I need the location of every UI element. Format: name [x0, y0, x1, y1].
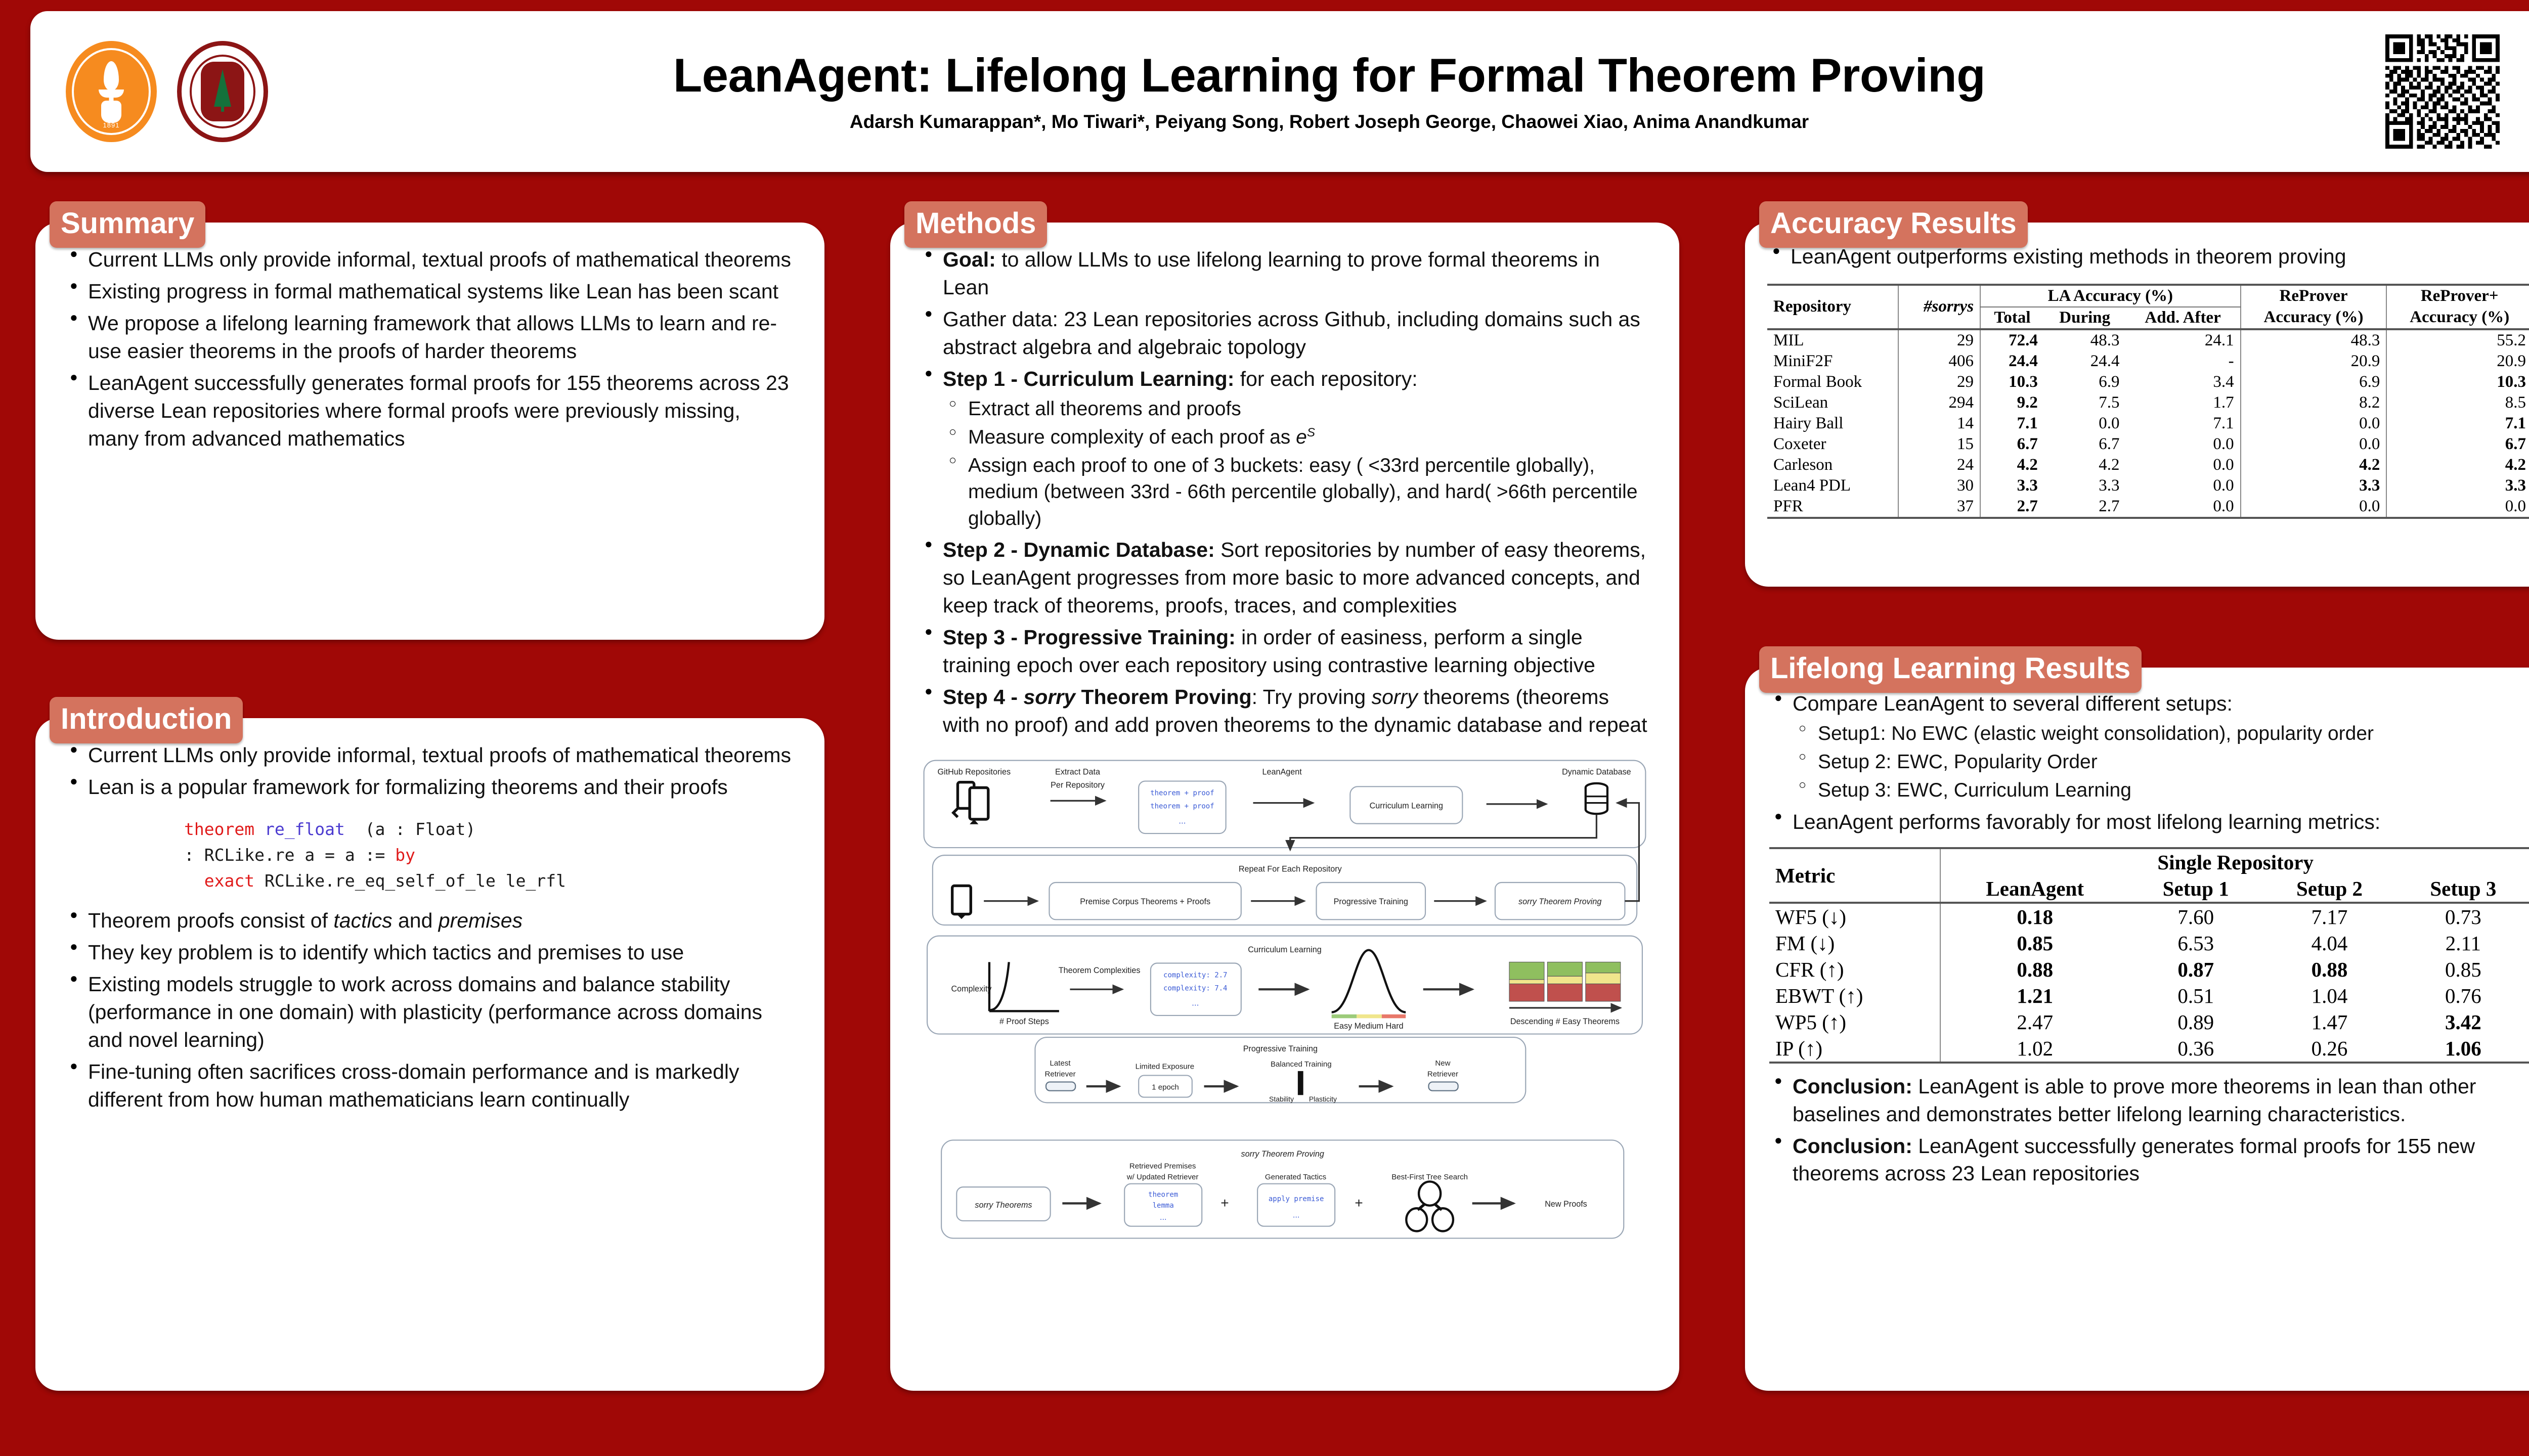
table-row: FM (↓)0.856.534.042.11	[1769, 930, 2529, 956]
cell-reprover-plus: 20.9	[2386, 351, 2529, 372]
caltech-year: 1891	[103, 121, 120, 129]
cell-total: 2.7	[1980, 496, 2044, 518]
svg-text:# Proof Steps: # Proof Steps	[999, 1017, 1049, 1026]
svg-text:...: ...	[1160, 1213, 1166, 1222]
accuracy-body: LeanAgent outperforms existing methods i…	[1745, 223, 2529, 539]
diagram-theorem-proof-box: theorem + proof theorem + proof ...	[1139, 781, 1226, 833]
cell-repository: MIL	[1767, 329, 1898, 351]
cell-repository: SciLean	[1767, 392, 1898, 413]
methods-sub-bullet: Measure complexity of each proof as eS	[943, 424, 1650, 451]
cell-setup1: 7.60	[2129, 903, 2262, 930]
cell-total: 10.3	[1980, 372, 2044, 392]
svg-text:New: New	[1435, 1059, 1450, 1068]
cell-during: 24.4	[2044, 351, 2126, 372]
lifelong-body: Compare LeanAgent to several different s…	[1745, 668, 2529, 1214]
stanford-s-shape	[201, 62, 244, 121]
generated-tactics-box: Generated Tactics apply premise ...	[1257, 1173, 1335, 1226]
cell-add-after: 0.0	[2126, 434, 2241, 455]
torch-icon	[98, 61, 125, 122]
cell-repository: Formal Book	[1767, 372, 1898, 392]
svg-text:Complexity: Complexity	[951, 984, 992, 993]
sub-add-after: Add. After	[2126, 307, 2241, 329]
accuracy-table: Repository #sorrys LA Accuracy (%) RePro…	[1767, 284, 2529, 519]
cell-total: 7.1	[1980, 413, 2044, 434]
svg-text:Premise Corpus Theorems + Pr: Premise Corpus Theorems + Proofs	[1080, 897, 1210, 906]
table-row: SciLean2949.27.51.78.28.5	[1767, 392, 2529, 413]
cell-setup2: 7.17	[2262, 903, 2396, 930]
setup-list: Setup1: No EWC (elastic weight consolida…	[1793, 721, 2529, 804]
code-token	[254, 819, 265, 839]
svg-text:Descending # Easy Theorems: Descending # Easy Theorems	[1510, 1017, 1620, 1026]
cell-reprover: 6.9	[2241, 372, 2387, 392]
diagram-repo-icon-2	[952, 886, 971, 919]
col-reprover-plus: ReProver+	[2386, 285, 2529, 307]
col-la-accuracy: LA Accuracy (%)	[1980, 285, 2241, 307]
cell-setup2: 0.26	[2262, 1035, 2396, 1063]
table-row: MIL2972.448.324.148.355.2	[1767, 329, 2529, 351]
introduction-bullet: Fine-tuning often sacrifices cross-domai…	[65, 1058, 795, 1114]
lifelong-results-heading: Lifelong Learning Results	[1759, 646, 2142, 693]
page-title: LeanAgent: Lifelong Learning for Formal …	[293, 51, 2365, 101]
svg-text:1 epoch: 1 epoch	[1152, 1083, 1179, 1091]
cell-setup3: 0.85	[2396, 956, 2529, 983]
cell-metric: WF5 (↓)	[1769, 903, 1940, 930]
cell-setup3: 1.06	[2396, 1035, 2529, 1063]
col-setup3: Setup 3	[2396, 875, 2529, 903]
cell-reprover-plus: 4.2	[2386, 455, 2529, 475]
introduction-bullets-before: Current LLMs only provide informal, text…	[65, 741, 795, 801]
code-token	[184, 871, 204, 891]
new-proofs-label: New Proofs	[1545, 1200, 1587, 1209]
table-row: EBWT (↑)1.210.511.040.76	[1769, 983, 2529, 1009]
cell-add-after: 3.4	[2126, 372, 2241, 392]
table-row: Carleson244.24.20.04.24.2	[1767, 455, 2529, 475]
summary-bullet: Existing progress in formal mathematical…	[65, 278, 795, 305]
cell-repository: MiniF2F	[1767, 351, 1898, 372]
lifelong-group-header-row: Metric Single Repository	[1769, 848, 2529, 875]
cell-reprover-plus: 3.3	[2386, 475, 2529, 496]
diagram-progressive-training-box: Progressive Training	[1317, 883, 1426, 919]
cell-total: 6.7	[1980, 434, 2044, 455]
cell-setup1: 0.87	[2129, 956, 2262, 983]
diagram-curriculum-learning-box: Curriculum Learning	[1350, 786, 1462, 823]
accuracy-table-head: Repository #sorrys LA Accuracy (%) RePro…	[1767, 285, 2529, 329]
table-row: CFR (↑)0.880.870.880.85	[1769, 956, 2529, 983]
cell-setup2: 0.88	[2262, 956, 2396, 983]
svg-text:...: ...	[1179, 815, 1186, 825]
caltech-seal-icon: 1891	[66, 41, 157, 142]
cell-total: 9.2	[1980, 392, 2044, 413]
cell-reprover-plus: 10.3	[2386, 372, 2529, 392]
methods-sub-bullet: Assign each proof to one of 3 buckets: e…	[943, 453, 1650, 532]
cell-setup3: 0.73	[2396, 903, 2529, 930]
cell-setup2: 1.47	[2262, 1009, 2396, 1035]
svg-text:Plasticity: Plasticity	[1309, 1095, 1337, 1103]
lifelong-bullet: LeanAgent performs favorably for most li…	[1769, 808, 2529, 836]
poster-root: 1891 LeanAgent: Lifelong Learning for Fo…	[0, 0, 2529, 1456]
col-reprover: ReProver	[2241, 285, 2387, 307]
methods-bullet: Step 2 - Dynamic Database: Sort reposito…	[920, 536, 1650, 620]
cell-during: 4.2	[2044, 455, 2126, 475]
cell-sorrys: 29	[1898, 329, 1980, 351]
table-row: Formal Book2910.36.93.46.910.3	[1767, 372, 2529, 392]
cell-total: 4.2	[1980, 455, 2044, 475]
methods-bullet-list: Goal: to allow LLMs to use lifelong lear…	[920, 246, 1650, 739]
cell-metric: IP (↑)	[1769, 1035, 1940, 1063]
cell-leanagent: 2.47	[1940, 1009, 2129, 1035]
methods-bullet: Step 3 - Progressive Training: in order …	[920, 624, 1650, 679]
cell-sorrys: 30	[1898, 475, 1980, 496]
cell-reprover-plus: 55.2	[2386, 329, 2529, 351]
cell-sorrys: 14	[1898, 413, 1980, 434]
cell-add-after: 0.0	[2126, 475, 2241, 496]
svg-text:sorry Theorems: sorry Theorems	[975, 1201, 1032, 1210]
cell-reprover: 0.0	[2241, 496, 2387, 518]
cell-setup1: 0.36	[2129, 1035, 2262, 1063]
col-sorrys: #sorrys	[1898, 285, 1980, 329]
cell-during: 7.5	[2044, 392, 2126, 413]
cell-reprover: 4.2	[2241, 455, 2387, 475]
lean-code-block: theorem re_float (a : Float): RCLike.re …	[65, 816, 795, 894]
svg-text:Easy Medium Hard: Easy Medium Hard	[1334, 1021, 1403, 1030]
methods-bullet: Gather data: 23 Lean repositories across…	[920, 305, 1650, 361]
cell-add-after: 7.1	[2126, 413, 2241, 434]
accuracy-results-panel: LeanAgent outperforms existing methods i…	[1745, 223, 2529, 587]
cell-leanagent: 1.02	[1940, 1035, 2129, 1063]
col-setup1: Setup 1	[2129, 875, 2262, 903]
diagram-repeat-label: Repeat For Each Repository	[1239, 864, 1342, 873]
cell-during: 0.0	[2044, 413, 2126, 434]
cell-setup3: 2.11	[2396, 930, 2529, 956]
cell-reprover-plus: 0.0	[2386, 496, 2529, 518]
introduction-panel: Current LLMs only provide informal, text…	[35, 718, 824, 1391]
svg-text:Curriculum Learning: Curriculum Learning	[1370, 801, 1443, 810]
svg-text:Dynamic Database: Dynamic Database	[1562, 767, 1631, 776]
summary-bullet: Current LLMs only provide informal, text…	[65, 246, 795, 274]
author-list: Adarsh Kumarappan*, Mo Tiwari*, Peiyang …	[293, 111, 2365, 133]
qr-code-icon[interactable]	[2385, 34, 2500, 149]
lifelong-metrics-table: Metric Single Repository LeanAgent Setup…	[1769, 847, 2529, 1064]
diagram-complexity-box: complexity: 2.7 complexity: 7.4 ...	[1151, 963, 1241, 1015]
setup-item: Setup1: No EWC (elastic weight consolida…	[1793, 721, 2529, 747]
cell-add-after: 24.1	[2126, 329, 2241, 351]
accuracy-table-body: MIL2972.448.324.148.355.2MiniF2F40624.42…	[1767, 329, 2529, 518]
cell-sorrys: 406	[1898, 351, 1980, 372]
svg-text:Theorem Complexities: Theorem Complexities	[1059, 965, 1141, 975]
conclusion-bullet: Conclusion: LeanAgent successfully gener…	[1769, 1132, 2529, 1188]
cell-total: 72.4	[1980, 329, 2044, 351]
introduction-heading: Introduction	[50, 697, 243, 743]
code-line: theorem re_float (a : Float)	[184, 816, 795, 842]
cell-during: 6.7	[2044, 434, 2126, 455]
accuracy-results-heading: Accuracy Results	[1759, 201, 2028, 248]
svg-text:w/ Updated Retriever: w/ Updated Retriever	[1126, 1173, 1199, 1181]
svg-text:Retrieved Premises: Retrieved Premises	[1129, 1162, 1196, 1170]
cell-repository: Carleson	[1767, 455, 1898, 475]
code-token: : RCLike.re a = a :=	[184, 845, 395, 865]
svg-text:Generated Tactics: Generated Tactics	[1265, 1173, 1326, 1181]
cell-reprover: 3.3	[2241, 475, 2387, 496]
setup-item: Setup 3: EWC, Curriculum Learning	[1793, 777, 2529, 804]
flame-shape	[104, 61, 119, 91]
cell-sorrys: 37	[1898, 496, 1980, 518]
cell-metric: CFR (↑)	[1769, 956, 1940, 983]
cell-setup3: 3.42	[2396, 1009, 2529, 1035]
cell-sorrys: 24	[1898, 455, 1980, 475]
cell-total: 3.3	[1980, 475, 2044, 496]
svg-text:Latest: Latest	[1050, 1059, 1071, 1068]
code-token: re_float	[265, 819, 345, 839]
architecture-diagram: GitHub Repositories Extract Data Per Rep…	[920, 756, 1650, 1137]
lifelong-bullet: Compare LeanAgent to several different s…	[1769, 690, 2529, 804]
cell-repository: Coxeter	[1767, 434, 1898, 455]
cell-reprover: 20.9	[2241, 351, 2387, 372]
cell-reprover: 0.0	[2241, 413, 2387, 434]
cell-repository: PFR	[1767, 496, 1898, 518]
table-row: WP5 (↑)2.470.891.473.42	[1769, 1009, 2529, 1035]
svg-text:+: +	[1220, 1195, 1229, 1211]
cell-repository: Lean4 PDL	[1767, 475, 1898, 496]
introduction-bullet: Lean is a popular framework for formaliz…	[65, 773, 795, 801]
cell-sorrys: 294	[1898, 392, 1980, 413]
title-block: LeanAgent: Lifelong Learning for Formal …	[273, 51, 2385, 133]
table-row: Lean4 PDL303.33.30.03.33.3	[1767, 475, 2529, 496]
sub-reprover-plus-acc: Accuracy (%)	[2386, 307, 2529, 329]
col-single-repository: Single Repository	[1940, 848, 2529, 875]
table-row: Coxeter156.76.70.00.06.7	[1767, 434, 2529, 455]
cell-leanagent: 0.85	[1940, 930, 2129, 956]
svg-text:lemma: lemma	[1153, 1202, 1174, 1210]
methods-body: Goal: to allow LLMs to use lifelong lear…	[890, 223, 1679, 1268]
qr-code-block[interactable]	[2385, 34, 2529, 149]
introduction-bullet: Theorem proofs consist of tactics and pr…	[65, 907, 795, 935]
svg-text:complexity: 7.4: complexity: 7.4	[1163, 984, 1227, 992]
cell-reprover-plus: 6.7	[2386, 434, 2529, 455]
cell-during: 6.9	[2044, 372, 2126, 392]
cell-reprover-plus: 8.5	[2386, 392, 2529, 413]
svg-text:...: ...	[1192, 997, 1199, 1007]
conclusion-list: Conclusion: LeanAgent is able to prove m…	[1769, 1073, 2529, 1188]
svg-text:Retriever: Retriever	[1044, 1070, 1075, 1078]
cell-sorrys: 15	[1898, 434, 1980, 455]
cell-reprover: 48.3	[2241, 329, 2387, 351]
conclusion-bullet: Conclusion: LeanAgent is able to prove m…	[1769, 1073, 2529, 1128]
svg-text:sorry Theorem Proving: sorry Theorem Proving	[1518, 897, 1601, 906]
svg-text:GitHub Repositories: GitHub Repositories	[937, 767, 1011, 776]
sorry-proving-title: sorry Theorem Proving	[1241, 1150, 1324, 1159]
hand-shape	[101, 101, 121, 123]
table-row: MiniF2F40624.424.4-20.920.9	[1767, 351, 2529, 372]
introduction-body: Current LLMs only provide informal, text…	[35, 718, 824, 1138]
cell-setup2: 1.04	[2262, 983, 2396, 1009]
cell-setup1: 0.89	[2129, 1009, 2262, 1035]
lifelong-table-body: WF5 (↓)0.187.607.170.73FM (↓)0.856.534.0…	[1769, 903, 2529, 1063]
cell-setup1: 0.51	[2129, 983, 2262, 1009]
methods-sub-bullet: Extract all theorems and proofs	[943, 396, 1650, 422]
diagram-sorry-proving-box: sorry Theorem Proving	[1495, 883, 1625, 919]
svg-text:Retriever: Retriever	[1427, 1070, 1458, 1078]
summary-panel: Current LLMs only provide informal, text…	[35, 223, 824, 640]
code-line: exact RCLike.re_eq_self_of_le le_rfl	[184, 868, 795, 894]
svg-text:apply premise: apply premise	[1269, 1195, 1324, 1203]
sorry-theorems-box: sorry Theorems	[956, 1187, 1050, 1221]
svg-text:LeanAgent: LeanAgent	[1262, 767, 1302, 776]
lifelong-results-panel: Compare LeanAgent to several different s…	[1745, 668, 2529, 1391]
code-token: RCLike.re_eq_self_of_le le_rfl	[254, 871, 566, 891]
introduction-bullets-after: Theorem proofs consist of tactics and pr…	[65, 907, 795, 1114]
introduction-bullet: They key problem is to identify which ta…	[65, 939, 795, 966]
introduction-bullet: Current LLMs only provide informal, text…	[65, 741, 795, 769]
code-line: : RCLike.re a = a := by	[184, 842, 795, 868]
cell-leanagent: 1.21	[1940, 983, 2129, 1009]
methods-panel: Goal: to allow LLMs to use lifelong lear…	[890, 223, 1679, 1391]
cell-during: 3.3	[2044, 475, 2126, 496]
svg-text:Stability: Stability	[1269, 1095, 1294, 1103]
svg-text:Progressive Training: Progressive Training	[1334, 897, 1408, 906]
cell-during: 48.3	[2044, 329, 2126, 351]
diagram-limited-exposure: Limited Exposure 1 epoch	[1136, 1062, 1195, 1097]
svg-text:Limited Exposure: Limited Exposure	[1136, 1062, 1195, 1071]
lifelong-bullet-list: Compare LeanAgent to several different s…	[1769, 690, 2529, 836]
logo-group: 1891	[30, 41, 273, 142]
lifelong-table-head: Metric Single Repository LeanAgent Setup…	[1769, 848, 2529, 903]
code-token: (a : Float)	[345, 819, 475, 839]
table-row: IP (↑)1.020.360.261.06	[1769, 1035, 2529, 1063]
code-token: exact	[204, 871, 254, 891]
methods-sub-list: Extract all theorems and proofsMeasure c…	[943, 396, 1650, 532]
col-leanagent: LeanAgent	[1940, 875, 2129, 903]
cell-reprover: 8.2	[2241, 392, 2387, 413]
cell-total: 24.4	[1980, 351, 2044, 372]
cell-reprover-plus: 7.1	[2386, 413, 2529, 434]
methods-bullet: Step 1 - Curriculum Learning: for each r…	[920, 365, 1650, 532]
table-row: Hairy Ball147.10.07.10.07.1	[1767, 413, 2529, 434]
cell-setup2: 4.04	[2262, 930, 2396, 956]
svg-text:theorem + proof: theorem + proof	[1150, 802, 1214, 810]
svg-text:...: ...	[1293, 1210, 1299, 1219]
table-row: WF5 (↓)0.187.607.170.73	[1769, 903, 2529, 930]
cell-add-after: -	[2126, 351, 2241, 372]
accuracy-group-header-row: Repository #sorrys LA Accuracy (%) RePro…	[1767, 285, 2529, 307]
cell-sorrys: 29	[1898, 372, 1980, 392]
cell-reprover: 0.0	[2241, 434, 2387, 455]
caltech-logo: 1891	[66, 41, 162, 142]
summary-bullet-list: Current LLMs only provide informal, text…	[65, 246, 795, 453]
cell-leanagent: 0.18	[1940, 903, 2129, 930]
cell-add-after: 0.0	[2126, 455, 2241, 475]
cell-add-after: 1.7	[2126, 392, 2241, 413]
svg-text:Balanced Training: Balanced Training	[1271, 1060, 1332, 1069]
summary-heading: Summary	[50, 201, 205, 248]
poster-header: 1891 LeanAgent: Lifelong Learning for Fo…	[30, 11, 2529, 172]
col-metric: Metric	[1769, 848, 1940, 903]
cell-setup1: 6.53	[2129, 930, 2262, 956]
methods-bullet: Step 4 - sorry Theorem Proving: Try prov…	[920, 683, 1650, 739]
cell-setup3: 0.76	[2396, 983, 2529, 1009]
cell-repository: Hairy Ball	[1767, 413, 1898, 434]
cell-metric: FM (↓)	[1769, 930, 1940, 956]
sub-total: Total	[1980, 307, 2044, 329]
methods-heading: Methods	[904, 201, 1047, 248]
diagram-cl-title: Curriculum Learning	[1248, 945, 1321, 954]
svg-text:complexity: 2.7: complexity: 2.7	[1163, 971, 1227, 979]
diagram-premise-corpus-box: Premise Corpus Theorems + Proofs	[1049, 883, 1241, 919]
methods-bullet: Goal: to allow LLMs to use lifelong lear…	[920, 246, 1650, 301]
svg-text:+: +	[1355, 1195, 1363, 1211]
cell-during: 2.7	[2044, 496, 2126, 518]
stanford-seal-icon	[177, 41, 268, 142]
cell-leanagent: 0.88	[1940, 956, 2129, 983]
stanford-logo	[177, 41, 273, 142]
code-token: theorem	[184, 819, 254, 839]
summary-body: Current LLMs only provide informal, text…	[35, 223, 824, 477]
code-token: by	[395, 845, 415, 865]
svg-text:Extract Data: Extract Data	[1055, 767, 1100, 776]
col-setup2: Setup 2	[2262, 875, 2396, 903]
cell-metric: WP5 (↑)	[1769, 1009, 1940, 1035]
table-row: PFR372.72.70.00.00.0	[1767, 496, 2529, 518]
svg-text:Best-First Tree Search: Best-First Tree Search	[1391, 1173, 1468, 1181]
diagram-pt-title: Progressive Training	[1243, 1044, 1318, 1053]
svg-text:theorem: theorem	[1148, 1190, 1178, 1199]
col-repository: Repository	[1767, 285, 1898, 329]
svg-text:theorem + proof: theorem + proof	[1150, 789, 1214, 797]
svg-text:Per Repository: Per Repository	[1051, 780, 1105, 789]
sub-during: During	[2044, 307, 2126, 329]
cell-metric: EBWT (↑)	[1769, 983, 1940, 1009]
summary-bullet: We propose a lifelong learning framework…	[65, 310, 795, 365]
sorry-proving-diagram: sorry Theorem Proving sorry Theorems Ret…	[920, 1137, 1650, 1246]
cell-add-after: 0.0	[2126, 496, 2241, 518]
summary-bullet: LeanAgent successfully generates formal …	[65, 369, 795, 453]
sub-reprover-acc: Accuracy (%)	[2241, 307, 2387, 329]
introduction-bullet: Existing models struggle to work across …	[65, 970, 795, 1054]
setup-item: Setup 2: EWC, Popularity Order	[1793, 749, 2529, 775]
